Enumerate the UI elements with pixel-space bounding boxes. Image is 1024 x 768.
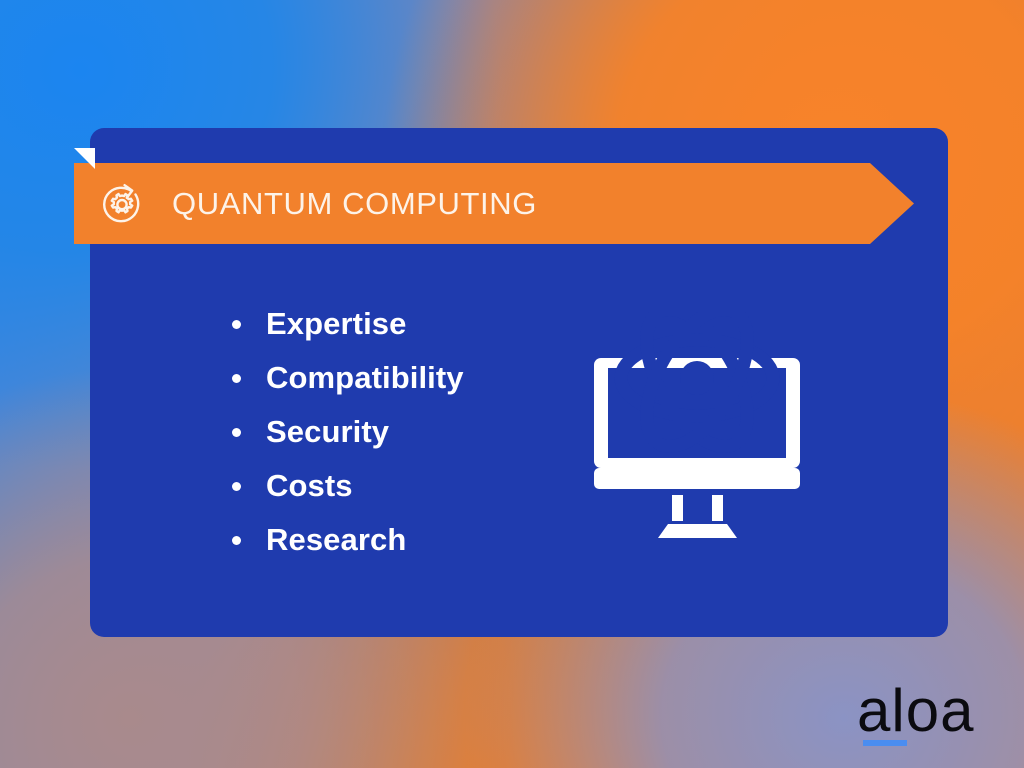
feature-bullet-list: Expertise Compatibility Security Costs R…	[232, 297, 464, 567]
bullet-dot-icon	[232, 428, 241, 437]
list-item: Compatibility	[232, 351, 464, 405]
logo-underline	[863, 740, 907, 746]
aloa-logo: aloa	[857, 687, 997, 749]
banner-fold-corner	[74, 148, 95, 169]
banner-title: QUANTUM COMPUTING	[172, 186, 537, 222]
slide-canvas: QUANTUM COMPUTING Expertise Compatibilit…	[0, 0, 1024, 768]
banner-content: QUANTUM COMPUTING	[74, 163, 537, 244]
gear-cycle-icon	[96, 178, 148, 230]
bullet-dot-icon	[232, 320, 241, 329]
list-item-label: Compatibility	[266, 360, 464, 396]
section-banner: QUANTUM COMPUTING	[74, 163, 914, 244]
list-item-label: Costs	[266, 468, 353, 504]
list-item-label: Research	[266, 522, 406, 558]
list-item-label: Security	[266, 414, 389, 450]
list-item-label: Expertise	[266, 306, 406, 342]
list-item: Research	[232, 513, 464, 567]
monitor-atom-illustration	[586, 312, 808, 544]
bullet-dot-icon	[232, 374, 241, 383]
logo-wordmark: aloa	[857, 681, 974, 741]
list-item: Security	[232, 405, 464, 459]
bullet-dot-icon	[232, 536, 241, 545]
list-item: Costs	[232, 459, 464, 513]
list-item: Expertise	[232, 297, 464, 351]
bullet-dot-icon	[232, 482, 241, 491]
